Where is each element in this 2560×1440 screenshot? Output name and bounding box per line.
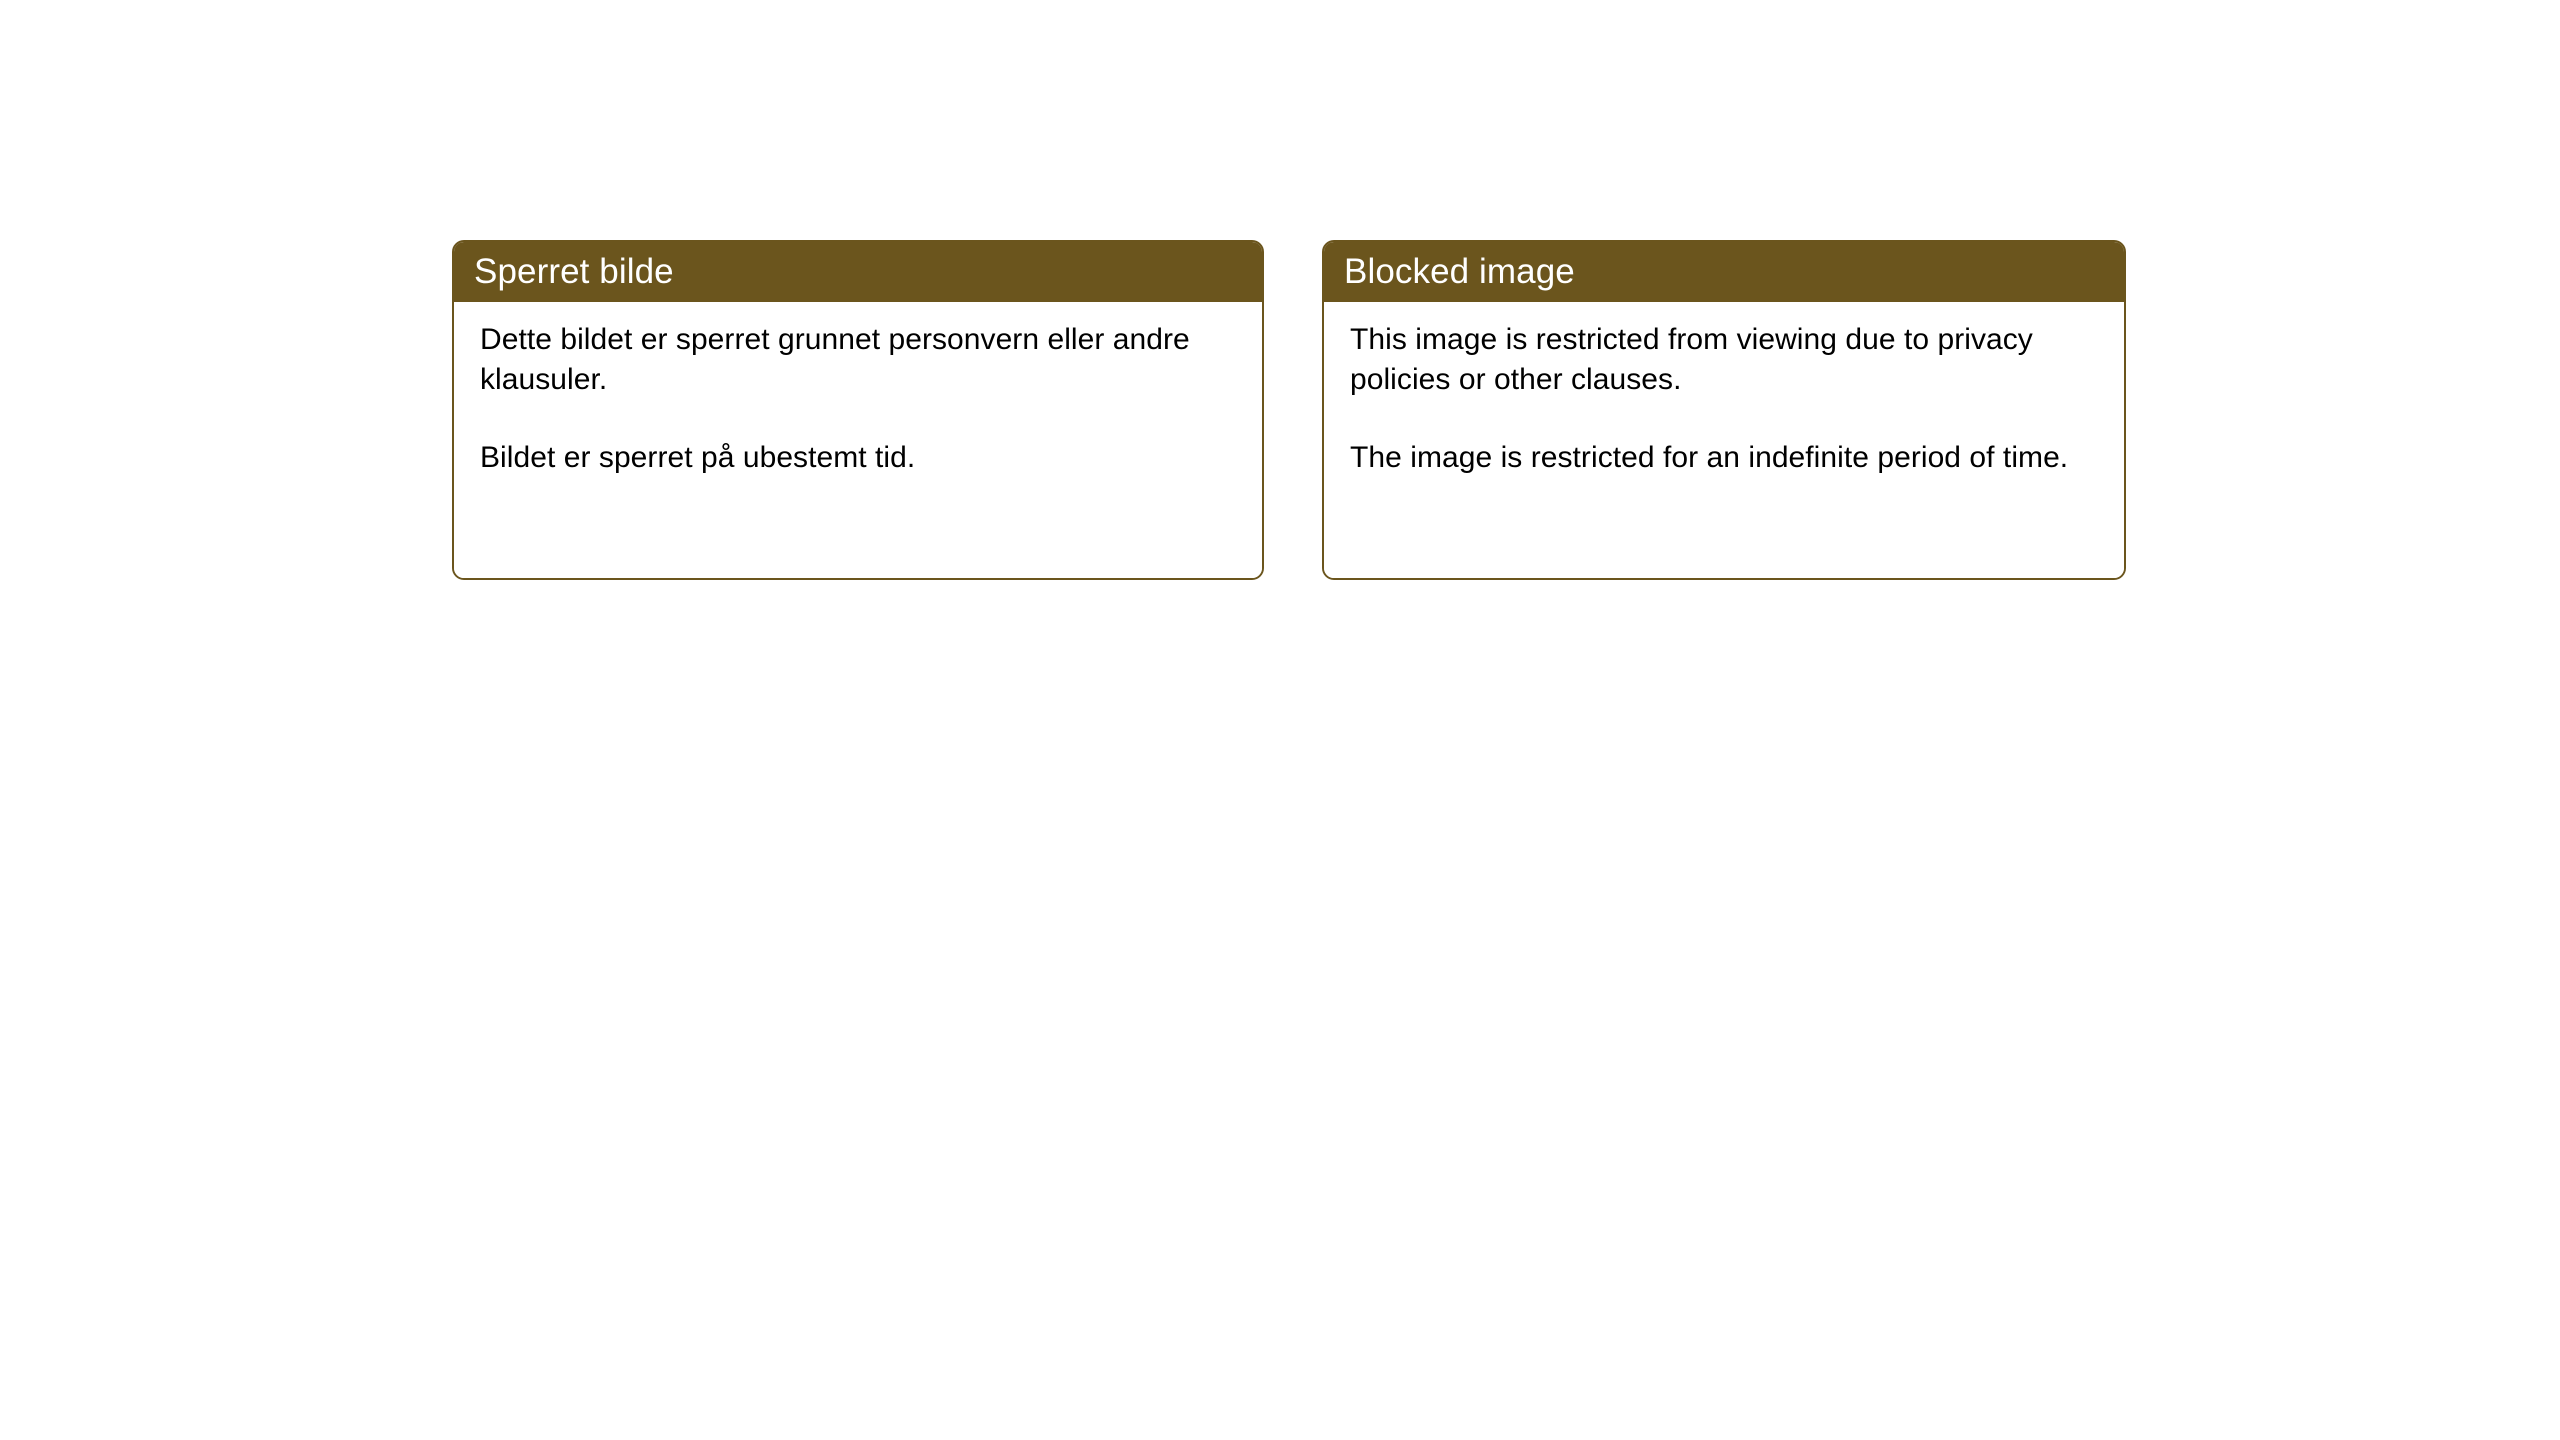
blocked-image-card-english: Blocked image This image is restricted f… — [1322, 240, 2126, 580]
card-body-norwegian: Dette bildet er sperret grunnet personve… — [454, 302, 1262, 578]
card-header-norwegian: Sperret bilde — [452, 240, 1264, 302]
card-title-english: Blocked image — [1344, 254, 1575, 289]
blocked-image-notices: Sperret bilde Dette bildet er sperret gr… — [452, 240, 2126, 580]
card-paragraph-primary-english: This image is restricted from viewing du… — [1350, 320, 2098, 400]
card-body-english: This image is restricted from viewing du… — [1324, 302, 2124, 578]
card-title-norwegian: Sperret bilde — [474, 254, 674, 289]
blocked-image-card-norwegian: Sperret bilde Dette bildet er sperret gr… — [452, 240, 1264, 580]
card-paragraph-secondary-norwegian: Bildet er sperret på ubestemt tid. — [480, 438, 1236, 478]
card-paragraph-primary-norwegian: Dette bildet er sperret grunnet personve… — [480, 320, 1236, 400]
card-paragraph-secondary-english: The image is restricted for an indefinit… — [1350, 438, 2098, 478]
card-header-english: Blocked image — [1322, 240, 2126, 302]
